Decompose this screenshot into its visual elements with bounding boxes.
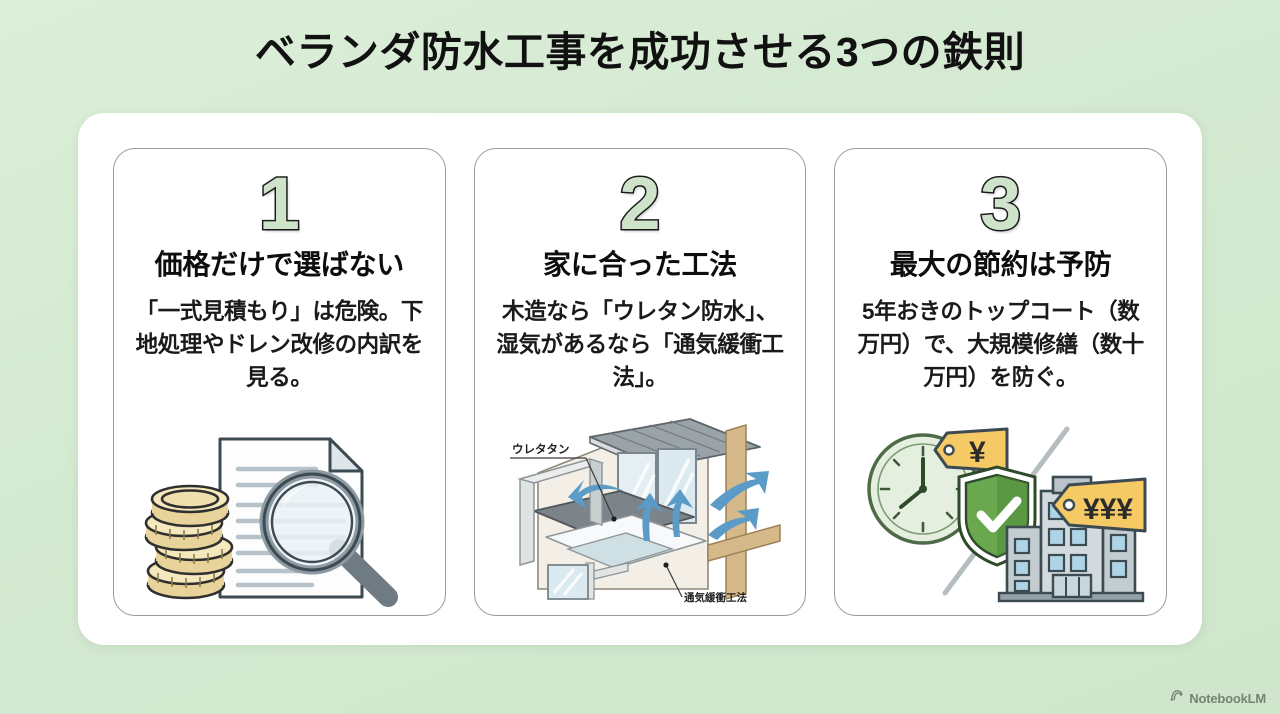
footer-watermark: NotebookLM [1169,688,1266,708]
card-1-number: 1 [259,169,300,239]
card-1-heading: 価格だけで選ばない [155,247,404,282]
coins-document-magnifier-illustration [114,406,445,611]
page-title: ベランダ防水工事を成功させる3つの鉄則 [0,28,1280,77]
clock-shield-vs-building-cost-illustration: ¥ [835,406,1166,611]
card-3-number: 3 [980,169,1021,239]
cards-row: 1 価格だけで選ばない 「一式見積もり」は危険。下地処理やドレン改修の内訳を見る… [113,148,1167,616]
card-3-heading: 最大の節約は予防 [890,247,1112,282]
card-2-number: 2 [619,169,660,239]
price-tag-yen-low: ¥ [935,429,1007,471]
slide-canvas: ベランダ防水工事を成功させる3つの鉄則 1 価格だけで選ばない 「一式見積もり」… [0,0,1280,714]
watermark-label: NotebookLM [1189,691,1266,706]
notebooklm-logo-icon [1169,688,1184,708]
svg-text:ウレタタン: ウレタタン [512,442,570,456]
svg-text:¥¥¥: ¥¥¥ [1083,493,1133,526]
coin-stack-icon [146,486,232,598]
svg-text:通気緩衝工法: 通気緩衝工法 [684,591,747,604]
price-tag-yen-high: ¥¥¥ [1053,479,1145,531]
svg-text:¥: ¥ [969,436,986,469]
card-3[interactable]: 3 最大の節約は予防 5年おきのトップコート（数万円）で、大規模修繕（数十万円）… [834,148,1167,616]
card-1-body: 「一式見積もり」は危険。下地処理やドレン改修の内訳を見る。 [128,296,431,394]
card-1[interactable]: 1 価格だけで選ばない 「一式見積もり」は危険。下地処理やドレン改修の内訳を見る… [113,148,446,616]
card-2[interactable]: 2 家に合った工法 木造なら「ウレタン防水」、湿気があるなら「通気緩衝工法」。 [474,148,807,616]
card-3-body: 5年おきのトップコート（数万円）で、大規模修繕（数十万円）を防ぐ。 [849,296,1152,394]
card-2-heading: 家に合った工法 [543,247,737,282]
balcony-waterproofing-diagram: ウレタタン 通気緩衝工法 [475,406,806,611]
card-2-body: 木造なら「ウレタン防水」、湿気があるなら「通気緩衝工法」。 [489,296,792,394]
